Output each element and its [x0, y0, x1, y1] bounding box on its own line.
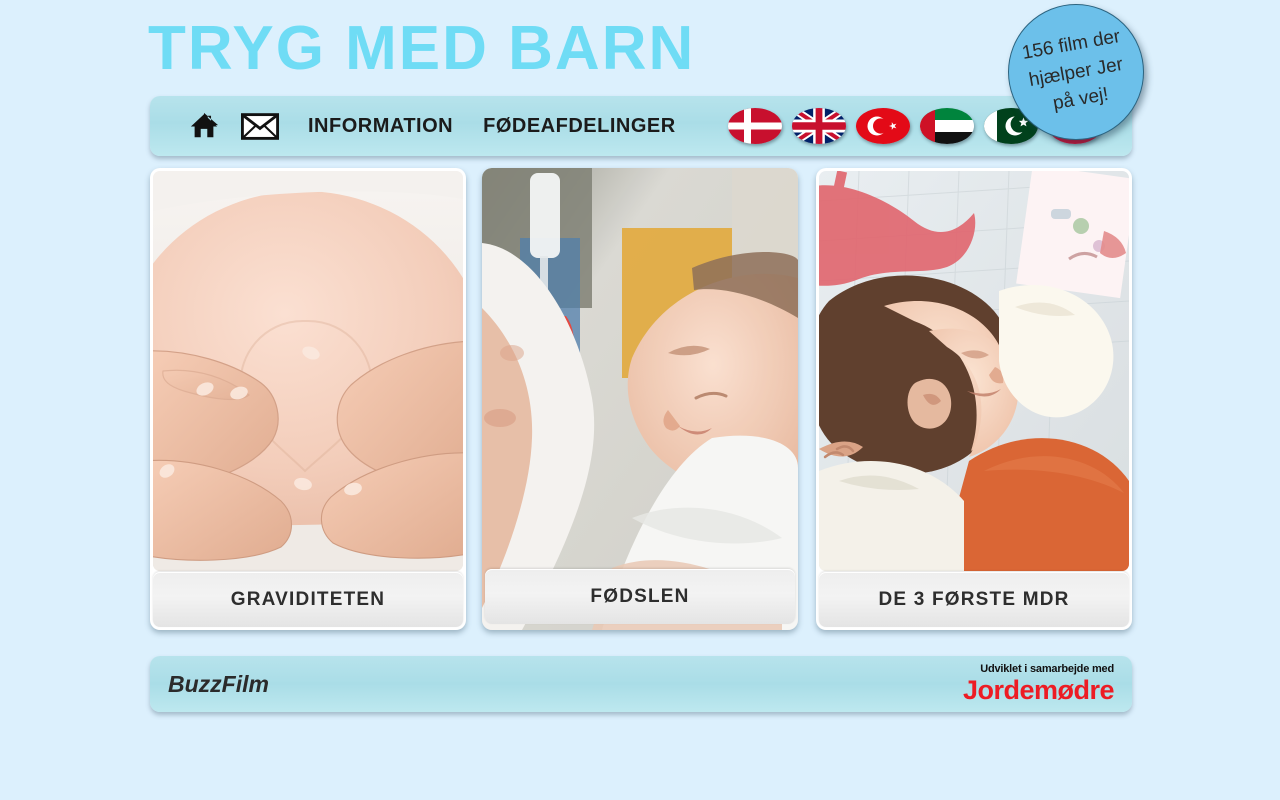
footer-brand-buzzfilm[interactable]: BuzzFilm — [168, 671, 269, 698]
film-count-badge-text: 156 film der hjælper Jer på vej! — [1010, 21, 1143, 123]
mail-icon[interactable] — [240, 106, 280, 146]
page-root: TRYG MED BARN INFORMATION FØDEAFDELINGER — [0, 0, 1280, 800]
pregnant-belly-hands-heart-photo — [153, 171, 463, 571]
page-title: TRYG MED BARN — [148, 16, 695, 81]
category-card-de-3-forste-mdr[interactable]: DE 3 FØRSTE MDR — [816, 168, 1132, 630]
home-icon[interactable] — [184, 106, 224, 146]
flag-united-kingdom-icon[interactable] — [792, 108, 846, 144]
footer-bar: BuzzFilm Udviklet i samarbejde med Jorde… — [150, 656, 1132, 712]
category-card-fodslen[interactable]: FØDSLEN — [482, 168, 798, 630]
category-caption-label: GRAVIDITETEN — [231, 589, 385, 611]
nav-link-fodeafdelinger[interactable]: FØDEAFDELINGER — [483, 115, 676, 138]
footer-partner-name[interactable]: Jordemødre — [963, 676, 1114, 704]
category-caption-graviditeten[interactable]: GRAVIDITETEN — [153, 572, 463, 627]
film-count-badge[interactable]: 156 film der hjælper Jer på vej! — [1008, 4, 1144, 140]
category-caption-label: DE 3 FØRSTE MDR — [878, 589, 1069, 611]
nav-link-information[interactable]: INFORMATION — [308, 115, 453, 138]
category-caption-label: FØDSLEN — [590, 586, 689, 608]
category-caption-de-3-forste-mdr[interactable]: DE 3 FØRSTE MDR — [819, 572, 1129, 627]
newborn-baby-with-mother-hospital-photo — [482, 168, 798, 630]
flag-united-arab-emirates-icon[interactable] — [920, 108, 974, 144]
footer-partner-prefix: Udviklet i samarbejde med — [963, 664, 1114, 676]
category-card-list: GRAVIDITETEN — [150, 168, 1132, 632]
sleeping-baby-with-toys-photo — [819, 171, 1129, 571]
flag-turkey-icon[interactable] — [856, 108, 910, 144]
category-caption-fodslen[interactable]: FØDSLEN — [485, 569, 795, 624]
flag-denmark-icon[interactable] — [728, 108, 782, 144]
footer-partner: Udviklet i samarbejde med Jordemødre — [963, 664, 1114, 704]
main-navigation-bar: INFORMATION FØDEAFDELINGER — [150, 96, 1132, 156]
category-card-graviditeten[interactable]: GRAVIDITETEN — [150, 168, 466, 630]
